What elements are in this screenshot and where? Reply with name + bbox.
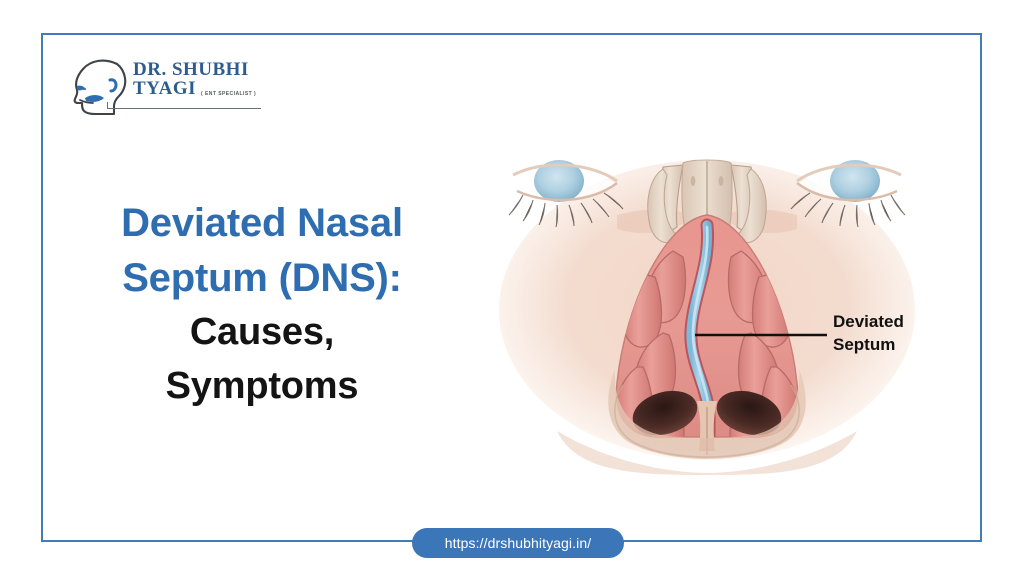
title-line-2: Septum (DNS):: [72, 251, 452, 306]
brand-name-line1: DR. SHUBHI: [133, 60, 261, 79]
title-line-3: Causes,: [72, 306, 452, 360]
slide-canvas: DR. SHUBHI TYAGI ( ENT SPECIALIST ) Devi…: [0, 0, 1024, 576]
logo-divider: [107, 108, 261, 109]
deviated-septum-callout: Deviated Septum: [833, 311, 904, 356]
callout-line-1: Deviated: [833, 311, 904, 334]
brand-logo[interactable]: DR. SHUBHI TYAGI ( ENT SPECIALIST ): [71, 58, 261, 120]
callout-line-2: Septum: [833, 334, 904, 357]
brand-name-line2: TYAGI: [133, 79, 196, 98]
title-line-4: Symptoms: [72, 360, 452, 414]
title-line-1: Deviated Nasal: [72, 196, 452, 251]
page-title: Deviated Nasal Septum (DNS): Causes, Sym…: [72, 196, 452, 414]
brand-tagline: ( ENT SPECIALIST ): [201, 92, 256, 99]
website-url-text: https://drshubhityagi.in/: [445, 535, 591, 551]
logo-divider-tick: [107, 102, 108, 109]
brand-name: DR. SHUBHI TYAGI ( ENT SPECIALIST ): [133, 60, 261, 99]
website-url-badge[interactable]: https://drshubhityagi.in/: [412, 528, 624, 558]
